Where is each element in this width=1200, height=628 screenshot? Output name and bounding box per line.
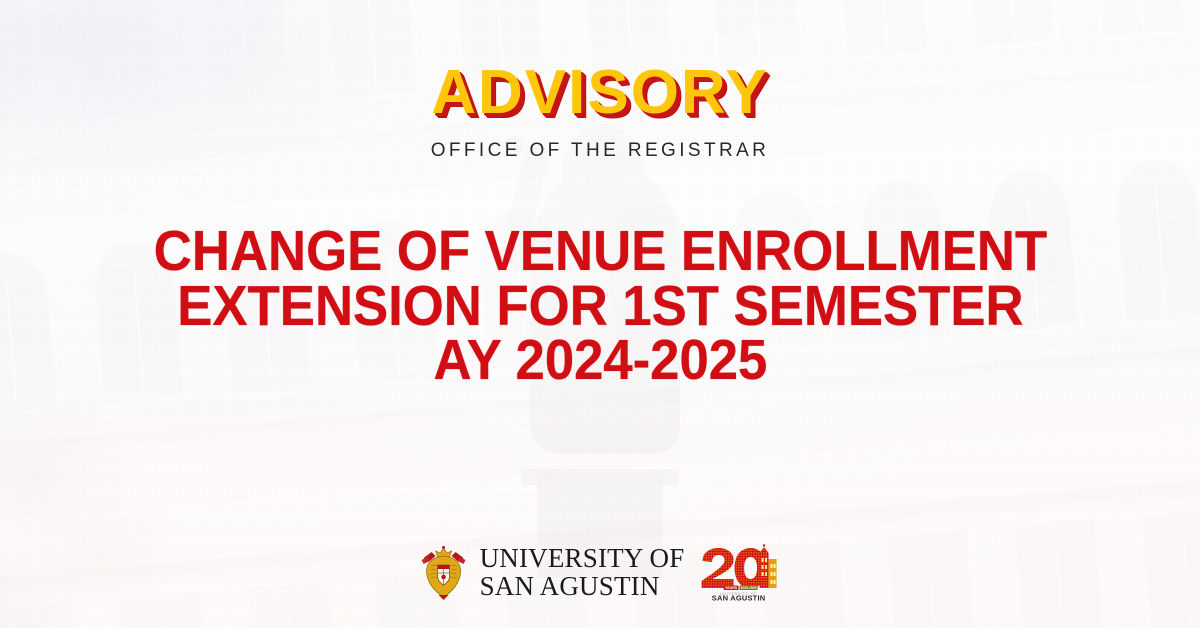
advisory-title: ADVISORY: [431, 62, 769, 124]
poster-content: ADVISORY OFFICE OF THE REGISTRAR CHANGE …: [0, 0, 1200, 628]
logo-lockup: UNIVERSITY OF SAN AGUSTIN: [421, 544, 780, 602]
church-tower-graphic: [759, 544, 776, 588]
wordmark-line-2: SAN AGUSTIN: [480, 573, 685, 601]
headline-line-1: CHANGE OF VENUE ENROLLMENT: [153, 224, 1046, 279]
advisory-subtitle: OFFICE OF THE REGISTRAR: [431, 140, 770, 162]
anniversary-small-line-2: SAN AGUSTIN: [712, 594, 766, 603]
anniversary-years-label: YEARS: [725, 586, 738, 590]
headline-block: CHANGE OF VENUE ENROLLMENT EXTENSION FOR…: [153, 224, 1046, 388]
headline-line-3: AY 2024-2025: [153, 333, 1046, 388]
anniversary-years-range: 2005-2025: [741, 586, 757, 590]
university-seal-icon: [421, 545, 467, 601]
wordmark-line-1: UNIVERSITY OF: [480, 545, 685, 573]
university-wordmark: UNIVERSITY OF SAN AGUSTIN: [480, 545, 685, 600]
headline-line-2: EXTENSION FOR 1ST SEMESTER: [153, 279, 1046, 334]
anniversary-badge-icon: YEARS 2005-2025 UNIVERSITY OF SAN AGUSTI…: [697, 544, 779, 602]
advisory-poster: ADVISORY OFFICE OF THE REGISTRAR CHANGE …: [0, 0, 1200, 628]
